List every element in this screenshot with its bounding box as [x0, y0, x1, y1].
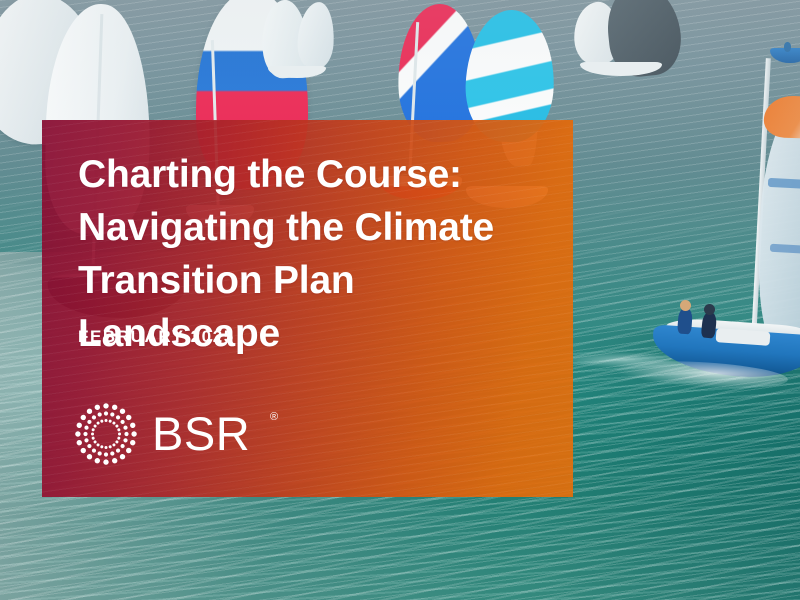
bsr-wordmark: BSR [152, 410, 250, 457]
title-panel: Charting the Course: Navigating the Clim… [42, 120, 573, 497]
registered-trademark-mark: ® [270, 412, 278, 423]
report-cover: Charting the Course: Navigating the Clim… [0, 0, 800, 600]
bsr-logo: BSR ® [70, 398, 290, 474]
radial-sunburst-dots-icon [70, 398, 142, 470]
publication-date: FEBRUARY 2025 [78, 327, 235, 347]
